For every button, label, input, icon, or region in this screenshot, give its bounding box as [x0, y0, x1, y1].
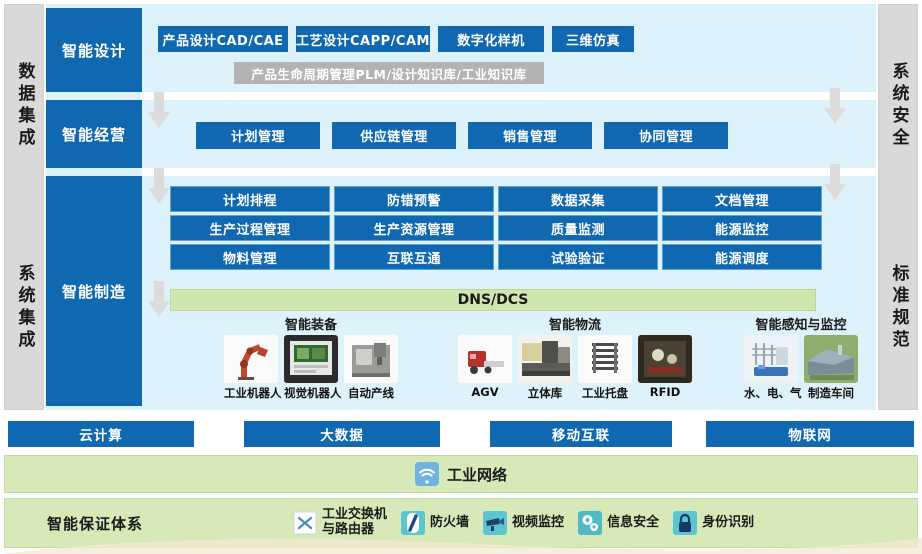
flow-arrow-down-right-2 [824, 164, 846, 200]
chip-mfg-0-0[interactable]: 计划排程 [170, 186, 330, 212]
assurance-items: 工业交换机 与路由器 防火墙 [293, 508, 754, 538]
assurance-item-firewall[interactable]: 防火墙 [401, 511, 469, 535]
chip-mfg-1-3[interactable]: 能源监控 [662, 215, 822, 241]
gallery-item-warehouse[interactable]: 立体库 [518, 335, 572, 401]
assurance-item-identity[interactable]: 身份识别 [673, 511, 754, 535]
equipment-gallery: 智能装备 工业机器人 [150, 314, 850, 408]
gallery-items-2: 水、电、气 制造车间 [726, 335, 876, 401]
chip-mfg-2-3[interactable]: 能源调度 [662, 244, 822, 270]
gallery-item-robot-arm[interactable]: 工业机器人 [224, 335, 278, 401]
tech-bar-iot[interactable]: 物联网 [706, 421, 914, 447]
assurance-item-label-0: 工业交换机 与路由器 [322, 508, 387, 538]
dns-dcs-label: DNS/DCS [458, 292, 529, 308]
category-block-design[interactable]: 智能设计 [46, 8, 142, 92]
tech-bar-label-2: 移动互联 [552, 424, 610, 444]
chip-business-1[interactable]: 供应链管理 [332, 122, 456, 149]
gallery-item-factory[interactable]: 制造车间 [804, 335, 858, 401]
gears-security-icon [578, 511, 602, 535]
right-rail-cell-0: 系统安全 [879, 5, 917, 207]
gallery-item-label-1-3: RFID [638, 385, 692, 399]
gallery-group-title-1: 智能物流 [450, 314, 700, 333]
chip-design-3[interactable]: 三维仿真 [552, 26, 634, 52]
industrial-network-label: 工业网络 [447, 464, 507, 485]
dns-dcs-bar[interactable]: DNS/DCS [170, 289, 816, 311]
tech-bar-cloud[interactable]: 云计算 [8, 421, 194, 447]
chip-business-2[interactable]: 销售管理 [468, 122, 592, 149]
category-label-business: 智能经营 [62, 124, 126, 145]
left-rail-label-0: 数据集成 [16, 62, 33, 150]
tech-bar-bigdata[interactable]: 大数据 [244, 421, 440, 447]
assurance-item-label-0-line1: 工业交换机 [322, 508, 387, 523]
assurance-item-switch-router[interactable]: 工业交换机 与路由器 [293, 508, 387, 538]
gallery-item-pallet[interactable]: 工业托盘 [578, 335, 632, 401]
gallery-group-equipment: 智能装备 工业机器人 [220, 314, 402, 401]
category-label-manufacturing: 智能制造 [62, 281, 126, 302]
gallery-item-label-0-1: 视觉机器人 [284, 385, 338, 401]
chip-mfg-1-0[interactable]: 生产过程管理 [170, 215, 330, 241]
assurance-item-label-2: 视频监控 [512, 516, 564, 531]
cctv-camera-icon [483, 511, 507, 535]
gallery-item-label-2-1: 制造车间 [804, 385, 858, 401]
category-block-business[interactable]: 智能经营 [46, 100, 142, 168]
assurance-band: 智能保证体系 工业交换机 与路由器 [4, 498, 918, 548]
chip-mfg-2-1[interactable]: 互联互通 [334, 244, 494, 270]
business-chip-row: 计划管理 供应链管理 销售管理 协同管理 [196, 122, 728, 149]
chip-mfg-0-1[interactable]: 防错预警 [334, 186, 494, 212]
flow-arrow-down-left-3 [148, 281, 170, 317]
robot-arm-icon [224, 335, 278, 383]
agv-icon [458, 335, 512, 383]
gallery-items-0: 工业机器人 [220, 335, 402, 401]
right-rail: 系统安全 标准规范 [878, 4, 918, 410]
left-rail-cell-1: 系统集成 [5, 207, 43, 409]
warehouse-icon [518, 335, 572, 383]
diagram-root: 数据集成 系统集成 系统安全 标准规范 智能设计 智能经营 智能制造 [0, 0, 922, 554]
left-rail-label-1: 系统集成 [16, 264, 33, 352]
gallery-item-label-1-2: 工业托盘 [578, 385, 632, 401]
separator-strip-2 [142, 168, 876, 176]
assurance-item-cctv[interactable]: 视频监控 [483, 511, 564, 535]
plm-platform-row: 产品生命周期管理PLM/设计知识库/工业知识库 [234, 62, 544, 84]
flow-arrow-down-left-2 [148, 168, 170, 204]
tech-bar-label-3: 物联网 [788, 424, 832, 444]
separator-strip-1 [142, 92, 876, 100]
chip-design-0[interactable]: 产品设计CAD/CAE [158, 26, 288, 52]
gallery-items-1: AGV 立体库 [450, 335, 700, 401]
gallery-item-label-2-0: 水、电、气 [744, 385, 798, 401]
assurance-item-label-3: 信息安全 [607, 516, 659, 531]
wifi-icon [415, 462, 439, 486]
chip-mfg-2-0[interactable]: 物料管理 [170, 244, 330, 270]
gallery-item-label-0-2: 自动产线 [344, 385, 398, 401]
main-panel: 智能设计 智能经营 智能制造 产品设计CAD/CAE 工艺设计CA [46, 4, 876, 410]
gallery-item-label-1-1: 立体库 [518, 385, 572, 401]
right-rail-label-0: 系统安全 [890, 62, 907, 150]
manufacturing-grid: 计划排程 防错预警 数据采集 文档管理 生产过程管理 生产资源管理 质量监测 能… [170, 186, 822, 270]
gallery-item-label-1-0: AGV [458, 385, 512, 399]
rfid-icon [638, 335, 692, 383]
gallery-item-label-0-0: 工业机器人 [224, 385, 278, 401]
switch-router-icon [293, 511, 317, 535]
gallery-item-auto-line[interactable]: 自动产线 [344, 335, 398, 401]
category-block-manufacturing[interactable]: 智能制造 [46, 176, 142, 406]
industrial-network-band[interactable]: 工业网络 [4, 455, 918, 493]
gallery-item-rfid[interactable]: RFID [638, 335, 692, 401]
pallet-icon [578, 335, 632, 383]
firewall-icon [401, 511, 425, 535]
factory-icon [804, 335, 858, 383]
chip-mfg-2-2[interactable]: 试验验证 [498, 244, 658, 270]
chip-plm-platform[interactable]: 产品生命周期管理PLM/设计知识库/工业知识库 [234, 62, 544, 84]
cnc-machine-icon [344, 335, 398, 383]
assurance-title: 智能保证体系 [47, 513, 143, 534]
assurance-item-label-4: 身份识别 [702, 516, 754, 531]
flow-arrow-down-right-1 [824, 88, 846, 124]
gallery-group-sensing: 智能感知与监控 水、 [726, 314, 876, 401]
utilities-icon [744, 335, 798, 383]
chip-mfg-1-1[interactable]: 生产资源管理 [334, 215, 494, 241]
tech-bar-label-1: 大数据 [320, 424, 364, 444]
gallery-group-title-0: 智能装备 [220, 314, 402, 333]
flow-arrow-down-left-1 [148, 92, 170, 128]
assurance-item-label-1: 防火墙 [430, 516, 469, 531]
assurance-item-label-0-line2: 与路由器 [322, 523, 387, 538]
gallery-group-title-2: 智能感知与监控 [726, 314, 876, 333]
chip-design-2[interactable]: 数字化样机 [438, 26, 544, 52]
design-chip-row: 产品设计CAD/CAE 工艺设计CAPP/CAM 数字化样机 三维仿真 [158, 26, 634, 52]
gallery-group-logistics: 智能物流 AGV [450, 314, 700, 401]
lock-icon [673, 511, 697, 535]
vision-robot-icon [284, 335, 338, 383]
tech-bar-label-0: 云计算 [79, 424, 123, 444]
category-label-design: 智能设计 [62, 40, 126, 61]
gallery-item-vision-robot[interactable]: 视觉机器人 [284, 335, 338, 401]
chip-business-0[interactable]: 计划管理 [196, 122, 320, 149]
chip-design-1[interactable]: 工艺设计CAPP/CAM [296, 26, 430, 52]
tech-bar-mobile[interactable]: 移动互联 [490, 421, 672, 447]
right-rail-label-1: 标准规范 [890, 264, 907, 352]
chip-mfg-0-2[interactable]: 数据采集 [498, 186, 658, 212]
chip-mfg-1-2[interactable]: 质量监测 [498, 215, 658, 241]
gallery-item-utilities[interactable]: 水、电、气 [744, 335, 798, 401]
assurance-item-infosec[interactable]: 信息安全 [578, 511, 659, 535]
gallery-item-agv[interactable]: AGV [458, 335, 512, 401]
left-rail-cell-0: 数据集成 [5, 5, 43, 207]
chip-business-3[interactable]: 协同管理 [604, 122, 728, 149]
chip-mfg-0-3[interactable]: 文档管理 [662, 186, 822, 212]
left-rail: 数据集成 系统集成 [4, 4, 44, 410]
right-rail-cell-1: 标准规范 [879, 207, 917, 409]
